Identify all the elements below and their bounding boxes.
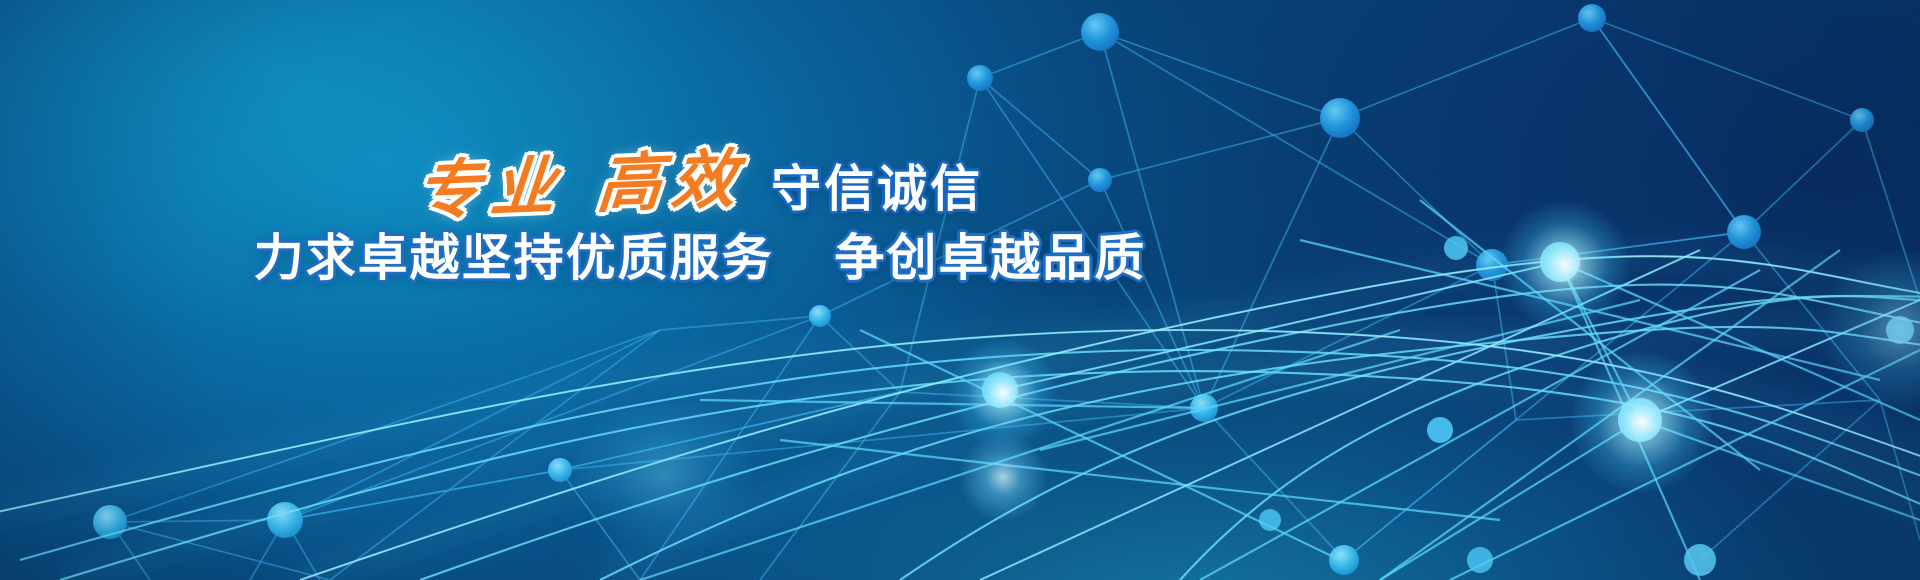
subheadline-part-1: 力求卓越坚持优质服务 <box>254 229 774 287</box>
background-vignette <box>0 0 1920 580</box>
headline-accent: 专业 高效 <box>414 148 749 225</box>
subheadline: 力求卓越坚持优质服务 争创卓越品质 <box>0 232 1400 285</box>
subheadline-part-2: 争创卓越品质 <box>834 229 1146 287</box>
headline-row: 专业 高效 守信诚信 <box>0 140 1400 218</box>
banner-copy: 专业 高效 守信诚信 力求卓越坚持优质服务 争创卓越品质 <box>0 140 1400 285</box>
promo-banner: 专业 高效 守信诚信 力求卓越坚持优质服务 争创卓越品质 <box>0 0 1920 580</box>
headline-secondary: 守信诚信 <box>771 164 983 218</box>
